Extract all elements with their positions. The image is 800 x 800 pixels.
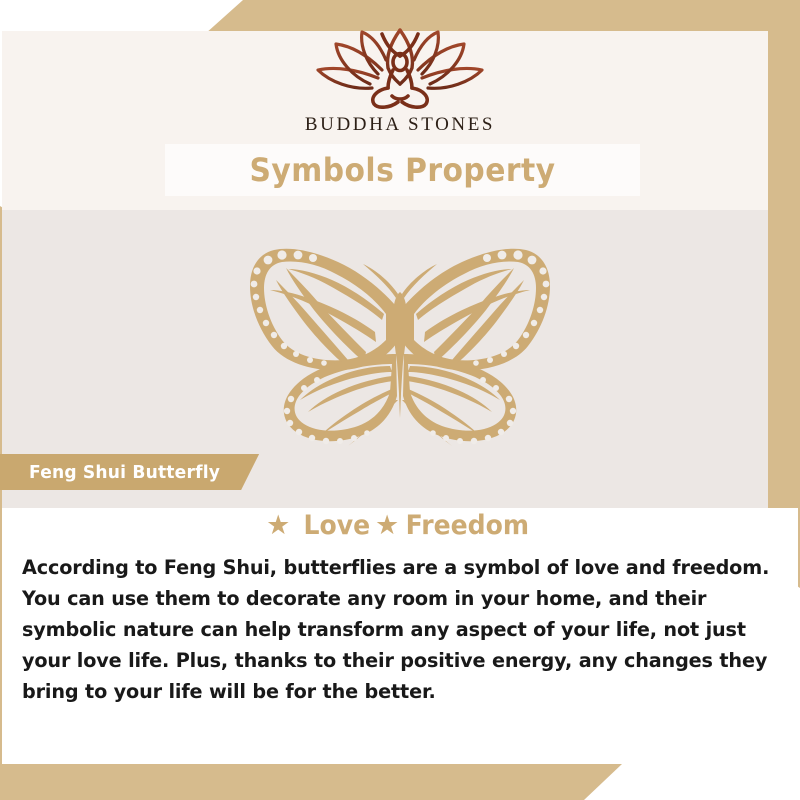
heading-word-love: Love [304, 512, 371, 539]
brand-name: BUDDHA STONES [305, 114, 495, 136]
star-icon-middle: ★ [375, 512, 399, 539]
page-title: Symbols Property [249, 151, 555, 189]
star-icon-left: ★ [266, 512, 290, 539]
butterfly-illustration [0, 236, 800, 456]
promo-graphic: BUDDHA STONES Symbols Property [0, 0, 800, 800]
gold-frame-bottom [0, 764, 622, 800]
description-paragraph: According to Feng Shui, butterflies are … [22, 552, 771, 707]
heading-word-freedom: Freedom [406, 512, 529, 539]
lotus-meditation-icon [312, 26, 488, 110]
love-freedom-heading: ★ Love ★ Freedom [0, 512, 800, 539]
brand-logo: BUDDHA STONES [0, 26, 800, 136]
butterfly-icon [220, 236, 580, 456]
feng-shui-banner-label: Feng Shui Butterfly [29, 462, 220, 483]
feng-shui-banner: Feng Shui Butterfly [0, 454, 259, 490]
title-band: Symbols Property [165, 144, 640, 196]
